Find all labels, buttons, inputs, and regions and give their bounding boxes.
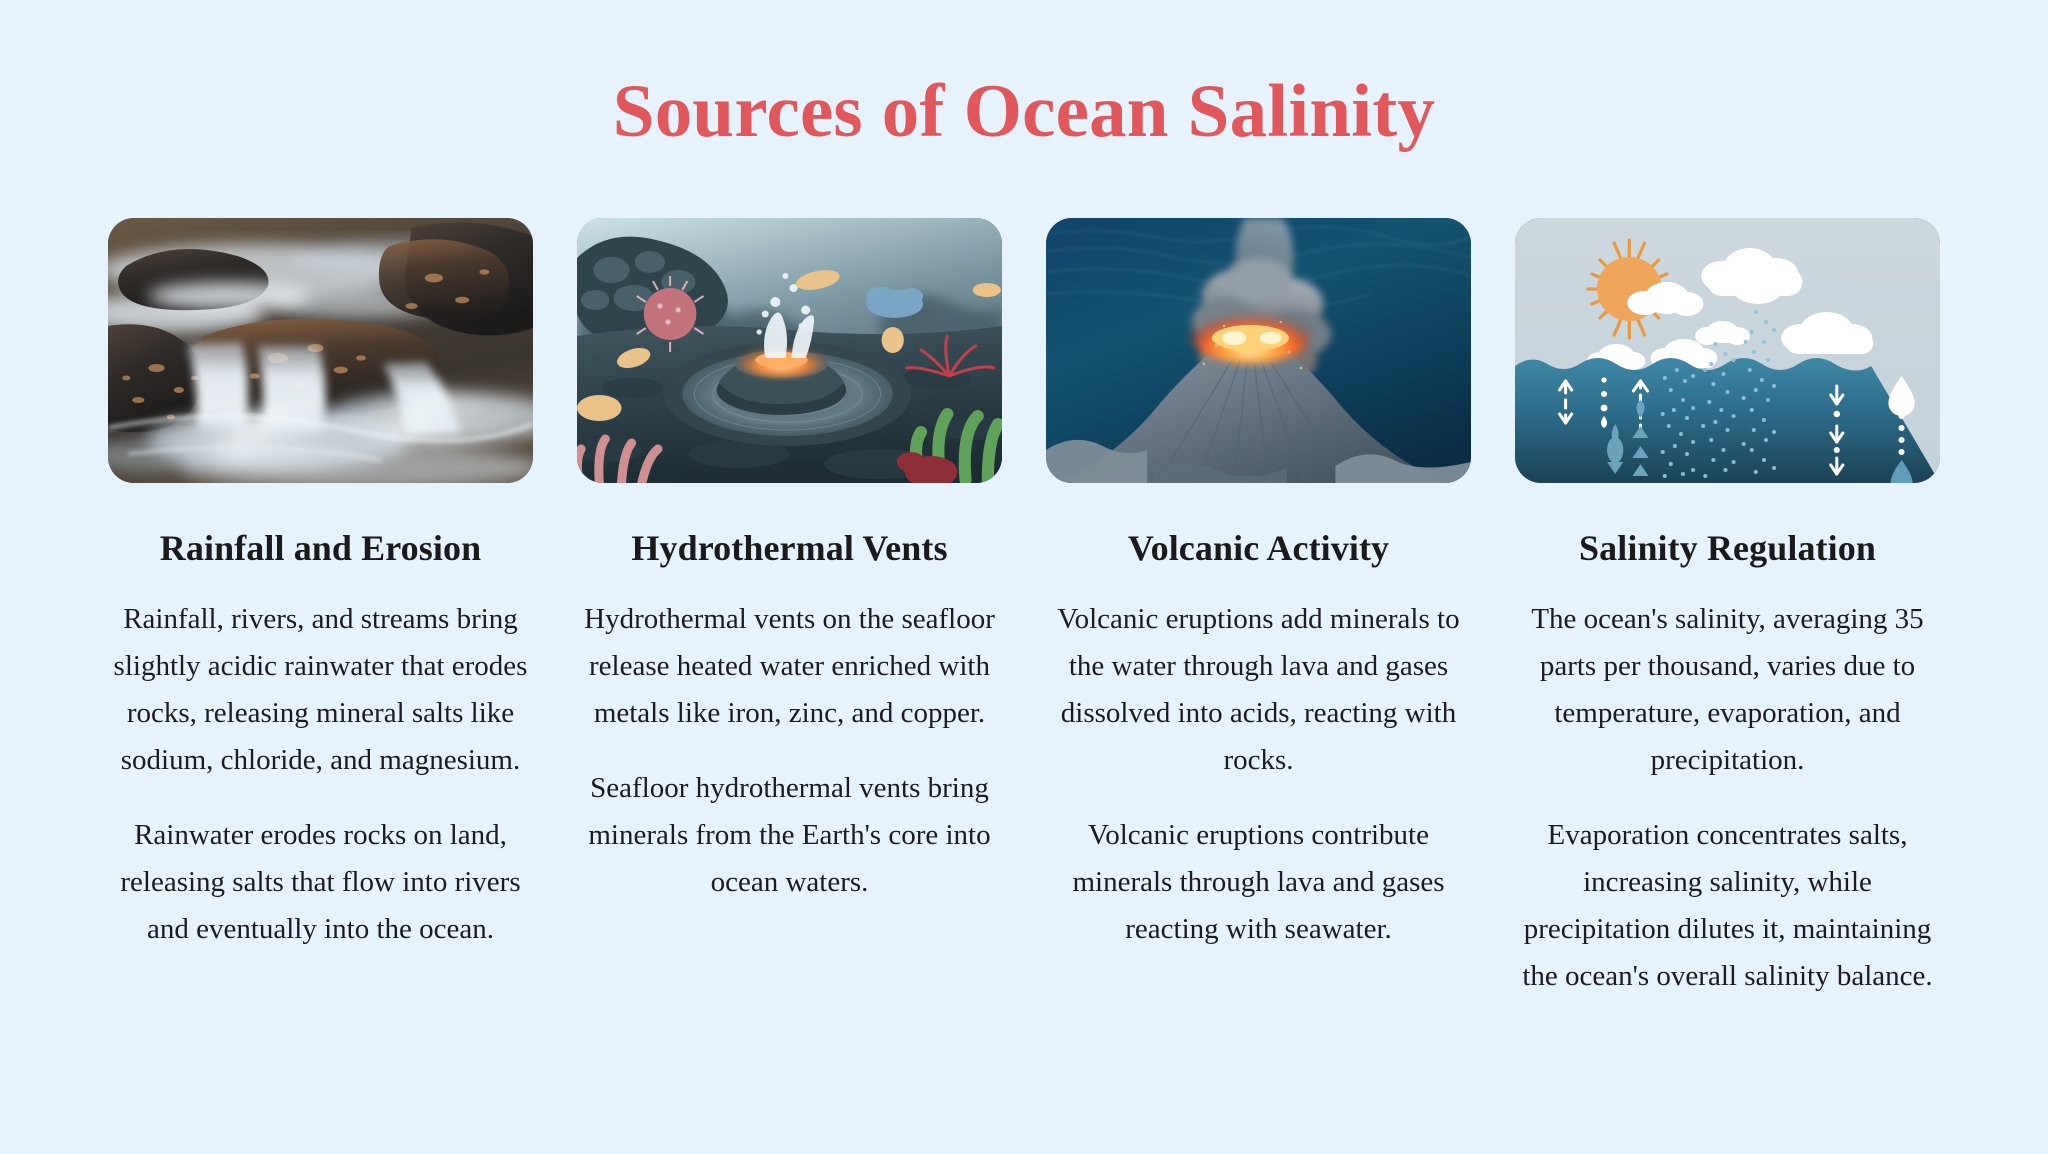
card-paragraph: Rainfall, rivers, and streams bring slig… [108, 596, 533, 784]
card-title: Salinity Regulation [1579, 527, 1876, 570]
card-volcanic-activity: Volcanic Activity Volcanic eruptions add… [1046, 218, 1471, 953]
card-title: Hydrothermal Vents [631, 527, 947, 570]
underwater-volcano-illustration [1046, 218, 1471, 483]
card-paragraph: The ocean's salinity, averaging 35 parts… [1515, 596, 1940, 784]
card-rainfall-and-erosion: Rainfall and Erosion Rainfall, rivers, a… [108, 218, 533, 953]
card-grid: Rainfall and Erosion Rainfall, rivers, a… [108, 218, 1940, 1000]
card-salinity-regulation: Salinity Regulation The ocean's salinity… [1515, 218, 1940, 1000]
card-body: Hydrothermal vents on the seafloor relea… [577, 570, 1002, 906]
rainfall-erosion-photo [108, 218, 533, 483]
card-paragraph: Hydrothermal vents on the seafloor relea… [577, 596, 1002, 737]
infographic-page: Sources of Ocean Salinity [0, 0, 2048, 1154]
water-cycle-diagram [1515, 218, 1940, 483]
hydrothermal-vent-illustration [577, 218, 1002, 483]
card-title: Volcanic Activity [1128, 527, 1389, 570]
card-hydrothermal-vents: Hydrothermal Vents Hydrothermal vents on… [577, 218, 1002, 906]
card-paragraph: Seafloor hydrothermal vents bring minera… [577, 765, 1002, 906]
hydrothermal-vent-photo [577, 218, 1002, 483]
card-body: Rainfall, rivers, and streams bring slig… [108, 570, 533, 953]
card-title: Rainfall and Erosion [160, 527, 481, 570]
card-paragraph: Rainwater erodes rocks on land, releasin… [108, 812, 533, 953]
card-paragraph: Evaporation concentrates salts, increasi… [1515, 812, 1940, 1000]
volcanic-activity-photo [1046, 218, 1471, 483]
card-paragraph: Volcanic eruptions contribute minerals t… [1046, 812, 1471, 953]
waterfall-illustration [108, 218, 533, 483]
card-body: Volcanic eruptions add minerals to the w… [1046, 570, 1471, 953]
salinity-regulation-diagram [1515, 218, 1940, 483]
card-body: The ocean's salinity, averaging 35 parts… [1515, 570, 1940, 1000]
card-paragraph: Volcanic eruptions add minerals to the w… [1046, 596, 1471, 784]
page-title: Sources of Ocean Salinity [108, 0, 1940, 152]
